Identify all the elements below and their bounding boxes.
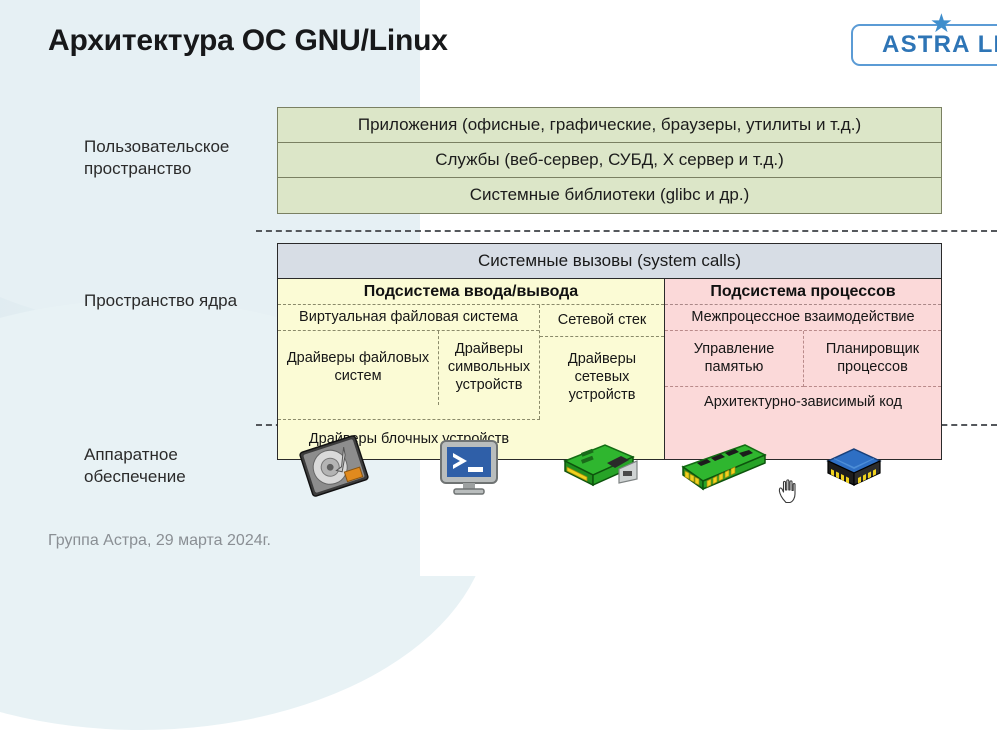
separator-userspace-kernelspace xyxy=(256,230,997,232)
cell-network-device-drivers: Драйверы сетевых устройств xyxy=(540,337,664,419)
cell-filesystem-drivers: Драйверы файловых систем xyxy=(278,331,439,405)
userspace-row-services: Службы (веб-сервер, СУБД, X сервер и т.д… xyxy=(278,143,941,178)
cell-memory-management: Управление памятью xyxy=(665,331,804,387)
cell-network-stack: Сетевой стек xyxy=(540,305,664,337)
network-card-icon xyxy=(557,439,639,502)
astra-linux-logo: ASTRA LIN xyxy=(851,24,997,66)
io-left-split: Драйверы файловых систем Драйверы символ… xyxy=(278,331,539,405)
cell-architecture-dependent-code: Архитектурно-зависимый код xyxy=(665,387,941,419)
cell-process-scheduler: Планировщик процессов xyxy=(804,331,941,387)
zone-label-kernelspace: Пространство ядра xyxy=(84,290,274,312)
hard-disk-icon xyxy=(297,435,371,502)
cell-inter-process-communication: Межпроцессное взаимодействие xyxy=(665,305,941,331)
io-subsystem-body: Виртуальная файловая система Драйверы фа… xyxy=(278,305,664,419)
zone-label-hardware: Аппаратное обеспечение xyxy=(84,444,274,489)
cell-character-device-drivers-label: Драйверы символьных устройств xyxy=(443,341,535,394)
cell-character-device-drivers: Драйверы символьных устройств xyxy=(439,331,539,405)
userspace-stack: Приложения (офисные, графические, браузе… xyxy=(277,107,942,214)
cell-filesystem-drivers-label: Драйверы файловых систем xyxy=(282,350,434,385)
monitor-terminal-icon xyxy=(437,439,501,502)
process-subsystem-middle-row: Управление памятью Планировщик процессов xyxy=(665,331,941,387)
io-subsystem-right-column: Сетевой стек Драйверы сетевых устройств xyxy=(540,305,664,419)
io-subsystem-title: Подсистема ввода/вывода xyxy=(278,279,664,305)
io-subsystem-left-column: Виртуальная файловая система Драйверы фа… xyxy=(278,305,540,419)
userspace-row-system-libraries: Системные библиотеки (glibc и др.) xyxy=(278,178,941,213)
cell-virtual-file-system: Виртуальная файловая система xyxy=(278,305,539,331)
hardware-icon-row xyxy=(277,432,942,504)
ram-module-icon xyxy=(677,441,769,502)
cpu-chip-icon xyxy=(822,445,886,502)
zone-label-userspace: Пользовательское пространство xyxy=(84,136,274,181)
system-calls-bar: Системные вызовы (system calls) xyxy=(278,244,941,279)
userspace-row-applications: Приложения (офисные, графические, браузе… xyxy=(278,108,941,143)
process-subsystem-title: Подсистема процессов xyxy=(665,279,941,305)
page-title: Архитектура ОС GNU/Linux xyxy=(48,24,448,58)
kernelspace-block: Системные вызовы (system calls) Подсисте… xyxy=(277,243,942,460)
hand-cursor xyxy=(776,477,800,510)
footer-text: Группа Астра, 29 марта 2024г. xyxy=(48,532,271,550)
star-icon: ★ xyxy=(930,10,953,36)
